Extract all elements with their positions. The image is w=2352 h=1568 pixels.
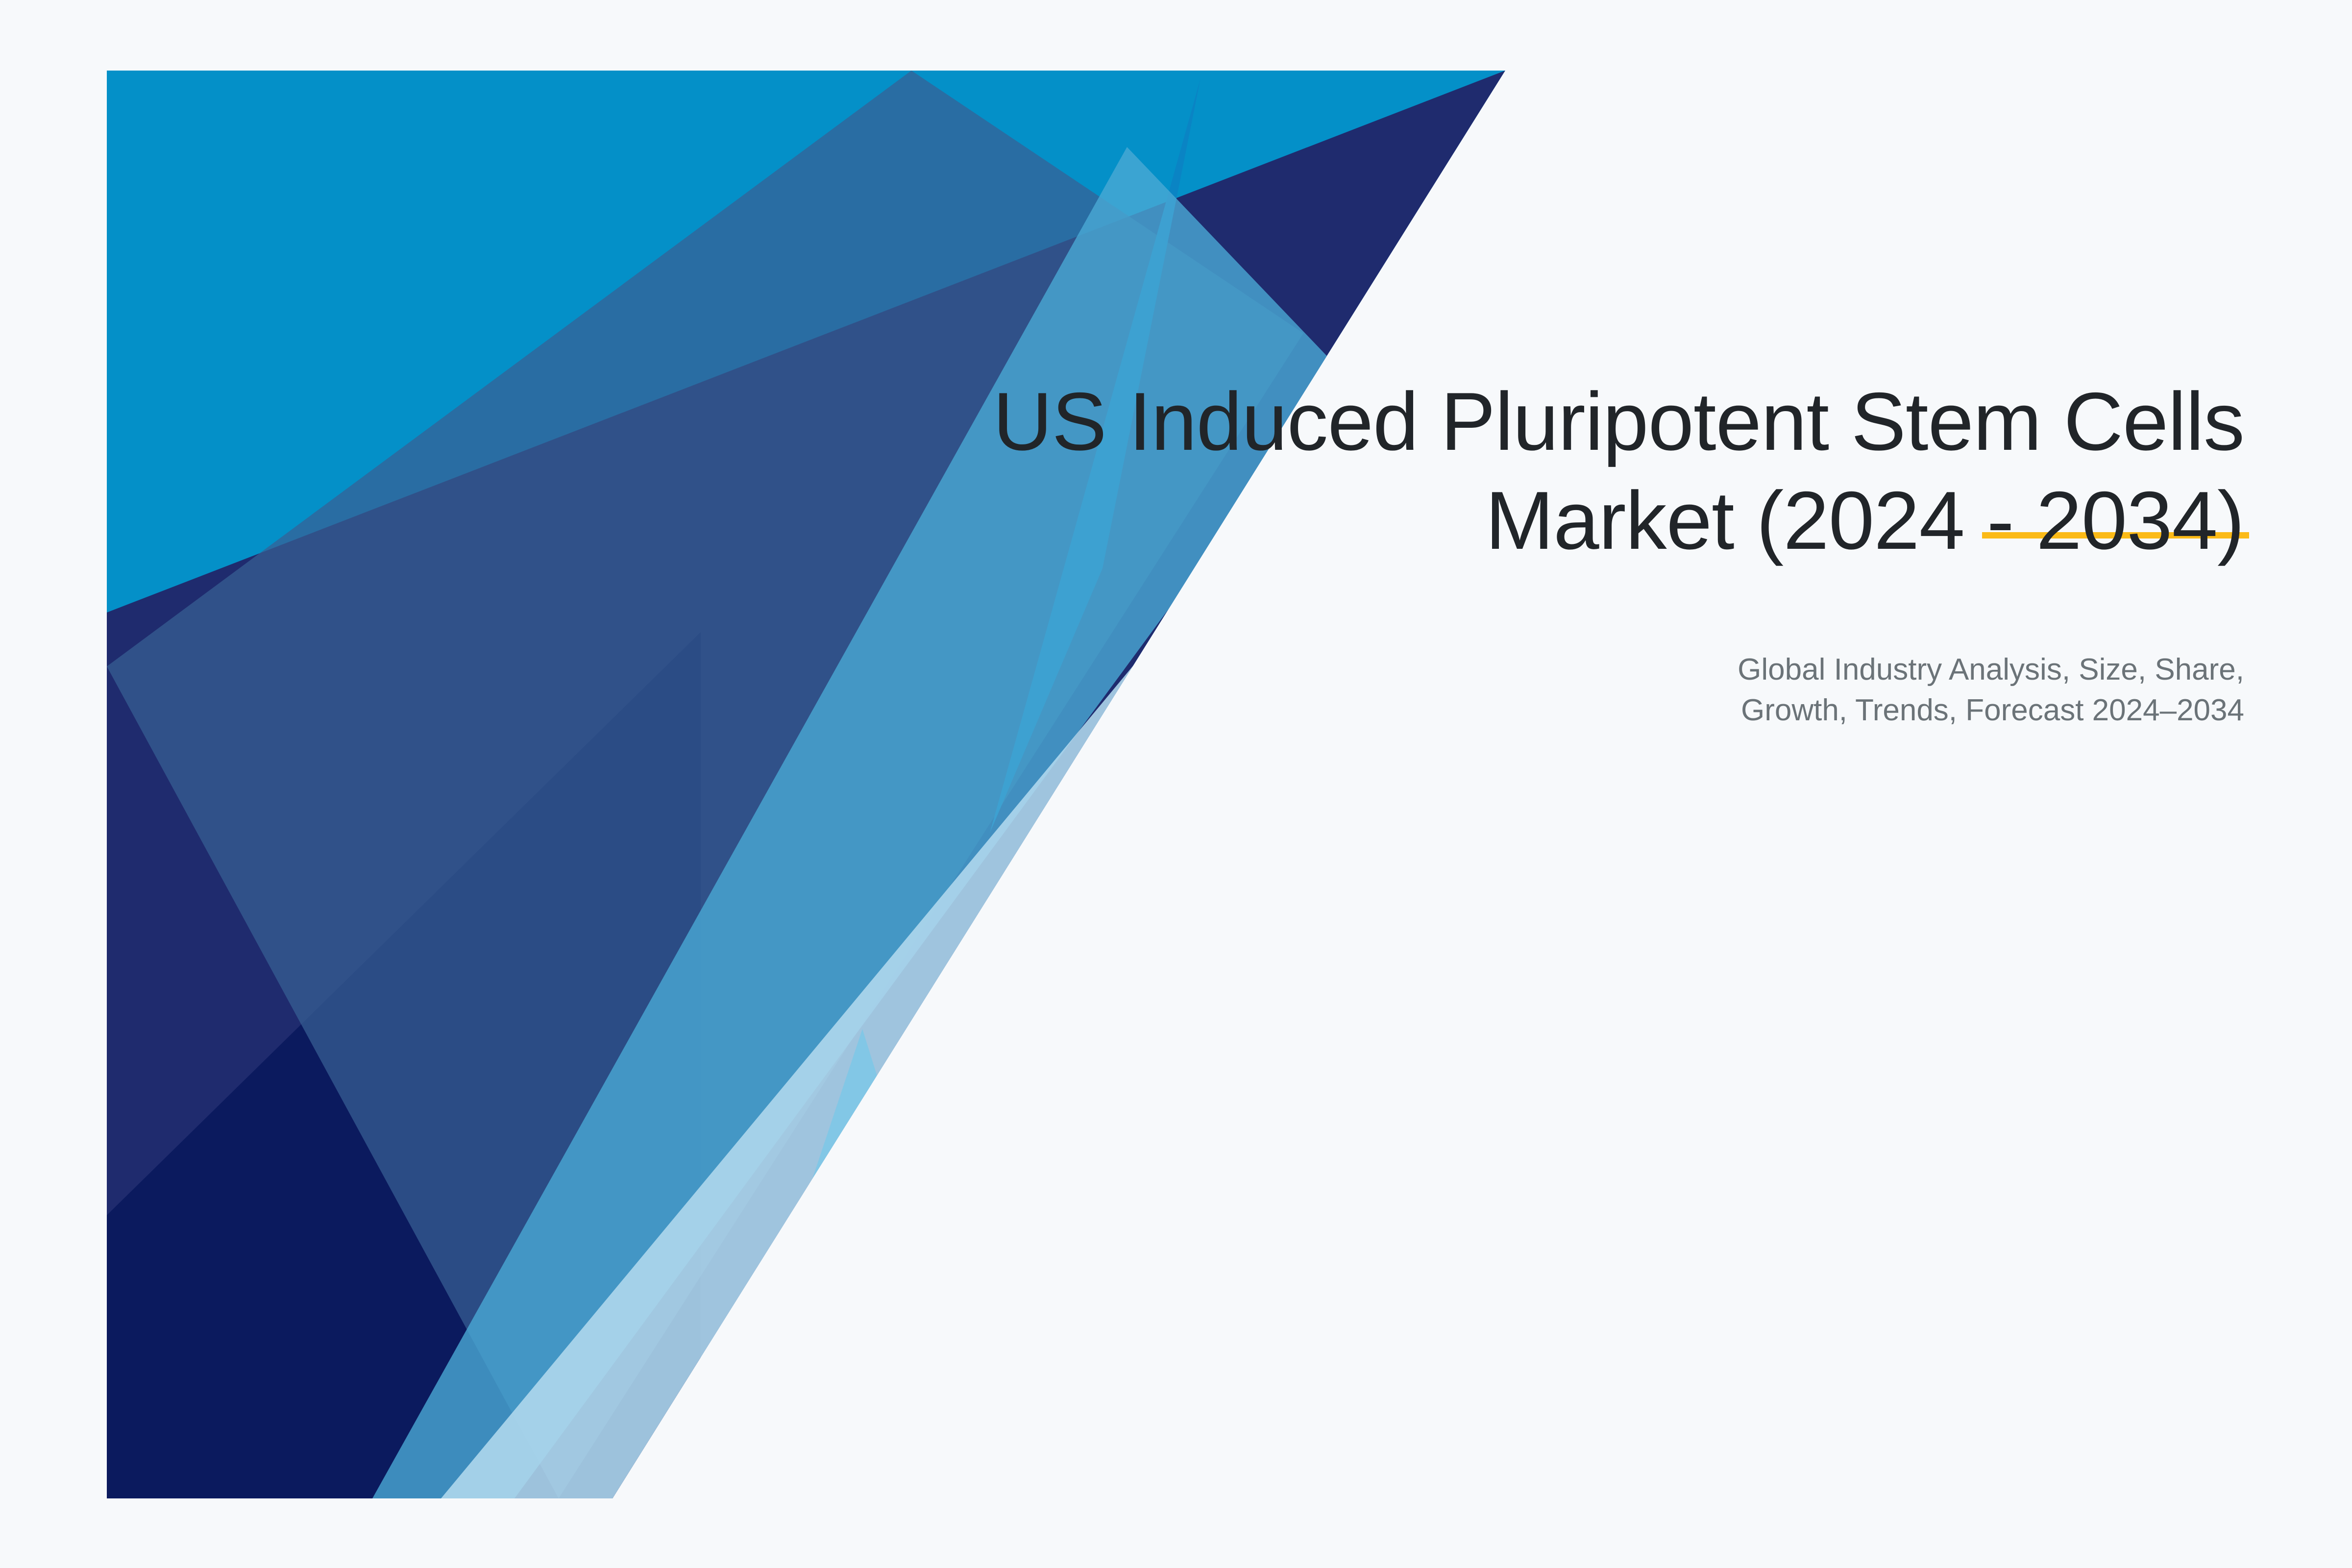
cover-text-block: US Induced Pluripotent Stem Cells Market… [833, 372, 2244, 570]
cover-page: US Induced Pluripotent Stem Cells Market… [0, 0, 2352, 1568]
page-title: US Induced Pluripotent Stem Cells Market… [833, 372, 2244, 570]
page-subtitle: Global Industry Analysis, Size, Share, G… [1274, 649, 2244, 731]
abstract-geometric-banner [0, 0, 2352, 1568]
